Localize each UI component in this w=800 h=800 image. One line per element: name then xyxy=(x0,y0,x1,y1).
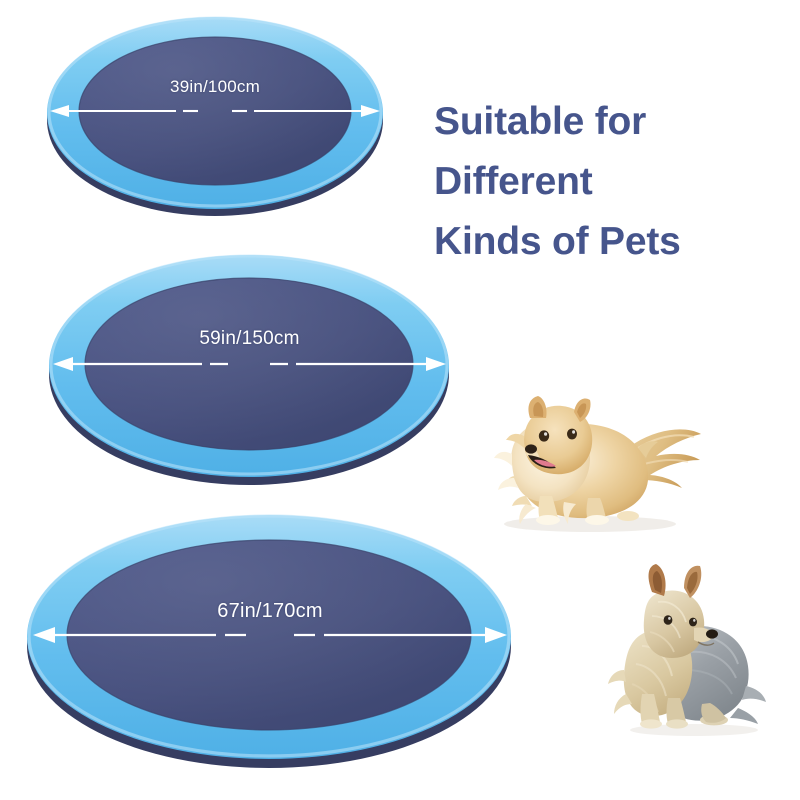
product-pool-medium: 59in/150cm xyxy=(42,245,457,487)
product-pool-large: 67in/170cm xyxy=(20,505,520,773)
yorkshire-paw-front-right xyxy=(666,719,688,728)
yorkshire-eye-left xyxy=(664,615,673,625)
pomeranian-eye-left xyxy=(539,430,549,441)
pomeranian-paw-front xyxy=(536,515,560,525)
product-pool-small: 39in/100cm xyxy=(40,8,390,218)
yorkshire-terrier-illustration xyxy=(598,558,784,740)
page-title: Suitable for Different Kinds of Pets xyxy=(434,92,794,272)
pomeranian-paw-rear xyxy=(585,515,609,525)
headline-line-1: Suitable for xyxy=(434,92,794,152)
pool-small-graphic xyxy=(40,8,390,218)
pomeranian-illustration xyxy=(468,378,706,536)
yorkshire-terrier-dog-photo xyxy=(598,558,784,740)
yorkshire-nose xyxy=(706,629,718,638)
pomeranian-eye-right xyxy=(567,429,577,440)
pool-medium-graphic xyxy=(42,245,457,487)
pomeranian-dog-photo xyxy=(468,378,706,536)
infographic-canvas: 39in/100cm xyxy=(0,0,800,800)
pool-large-graphic xyxy=(20,505,520,773)
yorkshire-eye-right xyxy=(689,618,697,627)
headline-line-3: Kinds of Pets xyxy=(434,212,794,272)
pomeranian-nose xyxy=(525,444,537,453)
yorkshire-paw-front-left xyxy=(640,719,662,728)
headline-line-2: Different xyxy=(434,152,794,212)
